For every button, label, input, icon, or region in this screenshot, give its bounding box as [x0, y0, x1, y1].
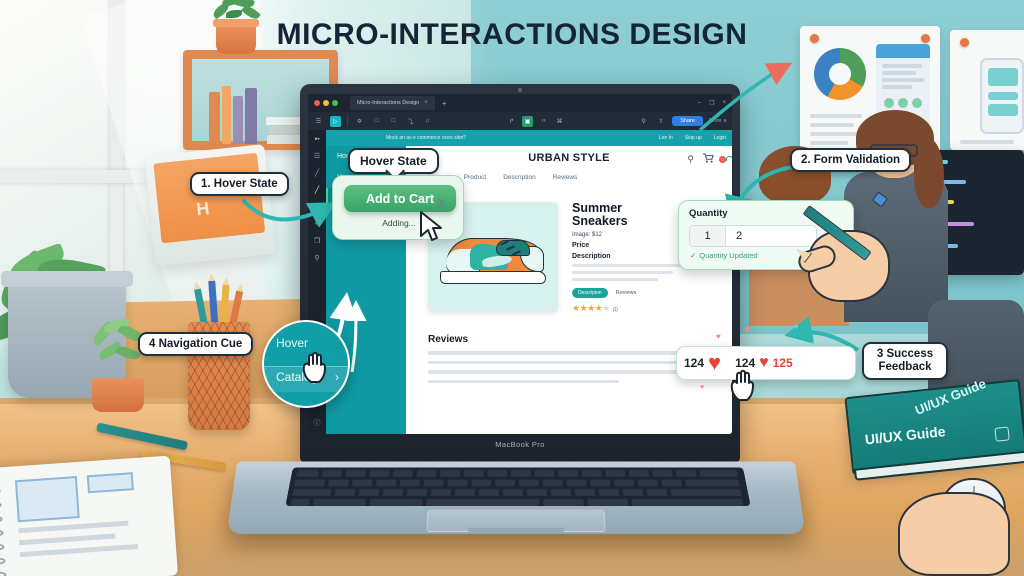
callout-navigation-cue: 4 Navigation Cue [138, 332, 253, 356]
zoom-icon[interactable]: ⚲ [314, 254, 319, 262]
app-titlebar: Micro-Interactions Design × + – ❐ × [308, 94, 732, 112]
site-top-banner: Mock an as e commerce oceo sitet? Lon In… [326, 130, 732, 146]
scene: H [0, 0, 1024, 576]
reviews-section: Reviews [428, 334, 718, 383]
code-icon[interactable]: ‹› [538, 116, 549, 127]
validation-success-text: Quantity Updated [699, 251, 757, 260]
brush-icon[interactable]: ◢ [314, 203, 319, 211]
pencil-icon[interactable]: ╱ [315, 186, 319, 194]
more-menu-button[interactable]: More ∨ [709, 118, 727, 124]
maximize-traffic-light[interactable] [332, 100, 338, 106]
header-icons: ⚲ [687, 153, 723, 165]
search-icon[interactable]: ⚲ [638, 116, 649, 127]
artboard-icon[interactable]: ❐ [314, 237, 320, 245]
window-controls: – ❐ × [698, 100, 726, 107]
search-icon[interactable]: ⚲ [687, 154, 694, 165]
product-info: Summer Sneakers Image: $12 Price Descrip… [572, 202, 682, 314]
cart-badge: 0 [719, 156, 726, 163]
laptop-lid: Micro-Interactions Design × + – ❐ × ☰ [300, 84, 740, 462]
stars-empty: ★ [602, 303, 610, 313]
keyboard[interactable] [285, 467, 750, 506]
book-cover-title: UI/UX Guide [864, 423, 946, 447]
tab-description[interactable]: Description [503, 174, 536, 185]
laptop-base [227, 461, 806, 533]
hand-holding-pencil [790, 196, 906, 316]
minimize-traffic-light[interactable] [323, 100, 329, 106]
check-icon: ✓ [690, 251, 696, 260]
close-traffic-light[interactable] [314, 100, 320, 106]
cart-glyph [703, 153, 714, 163]
banner-nav: Lon In Siop up Login [659, 135, 726, 141]
plugin-icon[interactable]: ⌘ [554, 116, 565, 127]
book-emblem-icon [994, 426, 1009, 441]
pill-reviews[interactable]: Reviews [616, 290, 637, 296]
mini-heart-icon-3: ♥ [700, 384, 704, 391]
banner-text: Mock an as e commerce oceo sitet? [386, 135, 466, 141]
callout-success-line1: 3 Success [877, 348, 933, 360]
mini-heart-icon-1: ♥ [716, 332, 721, 341]
share-button[interactable]: Share [672, 116, 703, 126]
pointing-hand-cursor-like [728, 366, 758, 402]
notebook-spiral [0, 474, 6, 576]
tab-title: Micro-Interactions Design [357, 100, 419, 106]
mini-heart-icon-2: ♥ [744, 324, 751, 336]
toolbar-center-group: ↱ ▣ ‹› ⌘ [506, 116, 565, 127]
maximize-button[interactable]: ❐ [709, 100, 714, 107]
quantity-old-value: 1 [690, 226, 726, 246]
share-icon[interactable]: ⇧ [655, 116, 666, 127]
like-count-after: 125 [773, 356, 793, 370]
brand-title: URBAN STYLE [528, 152, 610, 164]
pen-icon[interactable]: ╱ [315, 169, 319, 177]
product-description-label: Description [572, 253, 682, 260]
close-button[interactable]: × [722, 100, 726, 107]
tab-reviews[interactable]: Reviews [553, 174, 578, 185]
banner-nav-signup[interactable]: Siop up [685, 135, 702, 141]
like-count-before: 124 [684, 356, 704, 370]
component-icon[interactable]: ▣ [522, 116, 533, 127]
frame-tool-icon[interactable]: □ [371, 116, 382, 127]
close-icon[interactable]: × [424, 100, 428, 106]
tab-product[interactable]: Product [464, 174, 486, 185]
hover-state-demo-card: Add to Cart Adding... [332, 175, 464, 240]
select-tool-icon[interactable]: ➳ [314, 135, 320, 143]
sparkle-icon: ✦ [792, 322, 800, 333]
hand-on-mouse [898, 492, 1010, 576]
play-icon[interactable]: ▷ [330, 116, 341, 127]
reviews-title: Reviews [428, 334, 718, 345]
success-feedback-demo-card: 124 ♥ 124 ♥ 125 [676, 346, 856, 380]
new-tab-button[interactable]: + [442, 99, 447, 108]
link-icon[interactable]: ⚭ [314, 220, 320, 228]
like-before[interactable]: 124 ♥ [677, 352, 728, 374]
minimize-button[interactable]: – [698, 100, 701, 107]
rating-stars: ★★★★★(1) [572, 303, 682, 314]
app-toolbar: ☰ ▷ ✡ □ □ ⤵ ⌂ ↱ ▣ ‹› ⌘ [308, 112, 732, 130]
laptop-screen: Micro-Interactions Design × + – ❐ × ☰ [308, 94, 732, 434]
sparkle-icon-small: ✦ [810, 340, 816, 348]
design-app: Micro-Interactions Design × + – ❐ × ☰ [308, 94, 732, 434]
callout-success-feedback: 3 Success Feedback [862, 342, 948, 380]
product-name-line2: Sneakers [572, 215, 682, 228]
page-title: MICRO-INTERACTIONS DESIGN [0, 18, 1024, 52]
layers-icon[interactable]: ☲ [314, 152, 320, 160]
product-detail-pills: Descripion Reviews [572, 288, 682, 298]
laptop-model-label: MacBook Pro [300, 440, 740, 449]
laptop: Micro-Interactions Design × + – ❐ × ☰ [232, 84, 800, 554]
webcam-icon [518, 88, 522, 92]
chevron-right-icon: › [335, 370, 339, 384]
product-price-label: Price [572, 242, 682, 249]
help-icon[interactable]: ⓘ [314, 418, 321, 428]
adding-status-text: Adding... [333, 218, 465, 228]
donut-chart-graphic [814, 48, 866, 100]
plant-pot-small [92, 378, 144, 412]
heart-icon[interactable]: ♥ [708, 352, 721, 374]
comment-tool-icon[interactable]: ⌂ [422, 116, 433, 127]
shape-tool-icon[interactable]: □ [388, 116, 399, 127]
base-front-notch [467, 528, 565, 534]
mouse-cursor-arrow [418, 210, 444, 242]
pointing-hand-cursor-nav [300, 348, 330, 384]
pen-tool-icon[interactable]: ⤵ [405, 116, 416, 127]
validation-success-message: ✓ Quantity Updated [690, 251, 758, 260]
sketch-notebook [0, 456, 178, 576]
move-tool-icon[interactable]: ✡ [354, 116, 365, 127]
hover-state-tooltip: Hover State [348, 148, 439, 174]
cart-icon[interactable] [703, 153, 714, 165]
callout-success-line2: Feedback [878, 361, 931, 373]
banner-nav-login-2[interactable]: Login [714, 135, 726, 141]
cursor-icon[interactable]: ↱ [506, 116, 517, 127]
stars-filled: ★★★★ [572, 303, 602, 313]
quantity-label: Quantity [689, 208, 728, 219]
review-count: (1) [613, 307, 618, 313]
browser-tab[interactable]: Micro-Interactions Design × [350, 96, 435, 110]
callout-hover-state: 1. Hover State [190, 172, 289, 196]
menu-icon[interactable]: ☰ [313, 116, 324, 127]
heart-icon-filled[interactable]: ♥ [759, 355, 769, 371]
banner-nav-login[interactable]: Lon In [659, 135, 673, 141]
callout-form-validation: 2. Form Validation [790, 148, 911, 172]
pill-description[interactable]: Descripion [572, 288, 608, 298]
product-image-price: Image: $12 [572, 232, 682, 238]
